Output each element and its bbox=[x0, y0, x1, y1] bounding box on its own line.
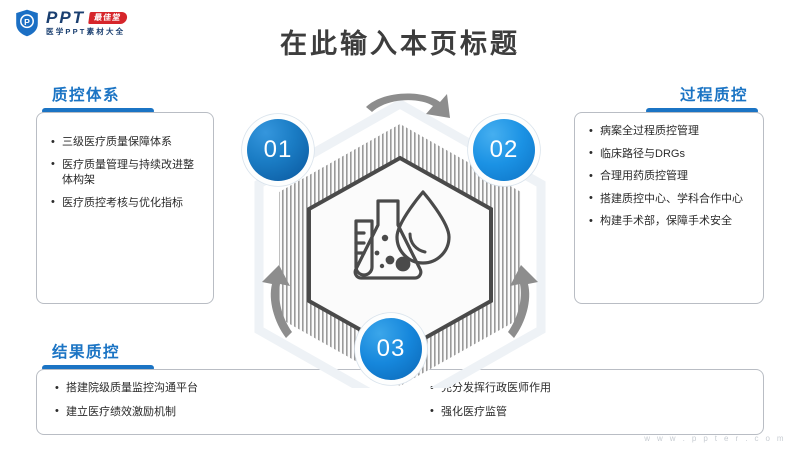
step-circle-03[interactable]: 03 bbox=[360, 318, 422, 380]
content-box-right: 病案全过程质控管理 临床路径与DRGs 合理用药质控管理 搭建质控中心、学科合作… bbox=[574, 112, 764, 304]
list-item: 医疗质量管理与持续改进整体构架 bbox=[51, 158, 201, 189]
list-item: 三级医疗质量保障体系 bbox=[51, 135, 201, 151]
section-heading-bottom: 结果质控 bbox=[52, 345, 120, 361]
list-item: 构建手术部，保障手术安全 bbox=[589, 214, 751, 230]
step-number-label: 01 bbox=[264, 136, 293, 164]
list-item: 病案全过程质控管理 bbox=[589, 124, 751, 140]
section-heading-right: 过程质控 bbox=[680, 88, 748, 104]
bullet-list-left: 三级医疗质量保障体系 医疗质量管理与持续改进整体构架 医疗质控考核与优化指标 bbox=[37, 113, 213, 211]
list-item: 搭建质控中心、学科合作中心 bbox=[589, 192, 751, 208]
step-circle-02[interactable]: 02 bbox=[473, 119, 535, 181]
list-item: 临床路径与DRGs bbox=[589, 147, 751, 163]
list-item: 建立医疗绩效激励机制 bbox=[55, 405, 388, 421]
slide-canvas: P PPT 最佳堂 医学PPT素材大全 在此输入本页标题 质控体系 三级医疗质量… bbox=[0, 0, 800, 450]
list-item: 强化医疗监管 bbox=[430, 405, 763, 421]
bottom-column-left: 搭建院级质量监控沟通平台 建立医疗绩效激励机制 bbox=[37, 381, 388, 434]
footer-watermark: w w w . p p t e r . c o m bbox=[644, 434, 786, 443]
section-heading-left: 质控体系 bbox=[52, 88, 120, 104]
bullet-list-right: 病案全过程质控管理 临床路径与DRGs 合理用药质控管理 搭建质控中心、学科合作… bbox=[575, 113, 763, 230]
step-number-label: 02 bbox=[490, 136, 519, 164]
list-item: 医疗质控考核与优化指标 bbox=[51, 196, 201, 212]
content-box-left: 三级医疗质量保障体系 医疗质量管理与持续改进整体构架 医疗质控考核与优化指标 bbox=[36, 112, 214, 304]
step-number-label: 03 bbox=[377, 335, 406, 363]
step-circle-01[interactable]: 01 bbox=[247, 119, 309, 181]
list-item: 合理用药质控管理 bbox=[589, 169, 751, 185]
page-title: 在此输入本页标题 bbox=[0, 22, 800, 61]
bottom-column-right: 充分发挥行政医师作用 强化医疗监管 bbox=[388, 381, 763, 434]
